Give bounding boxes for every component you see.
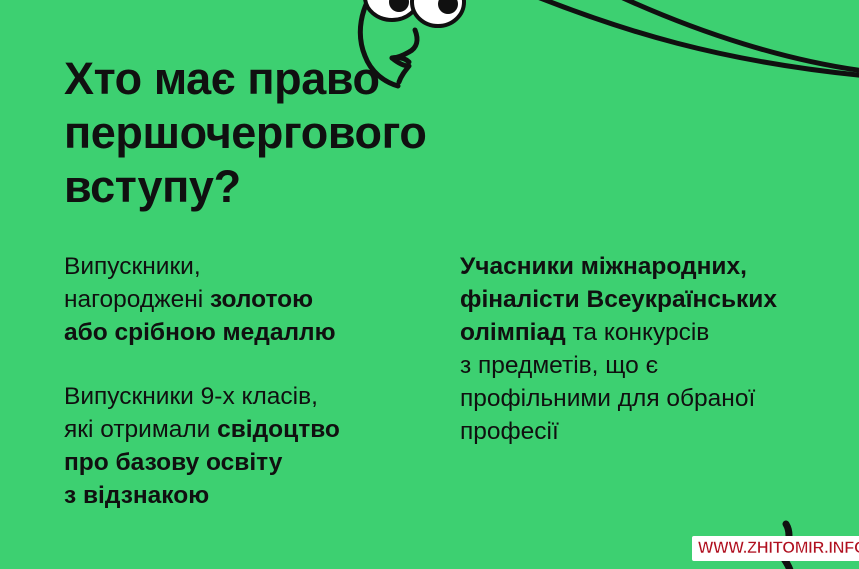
site-watermark: WWW.ZHITOMIR.INFO: [692, 536, 859, 561]
sweep-curve-lower: [610, 0, 859, 72]
list-item-regular-text: Випускники, нагороджені: [64, 253, 210, 313]
left-column: Випускники, нагороджені золотою або сріб…: [64, 250, 434, 512]
list-item: Випускники, нагороджені золотою або сріб…: [64, 250, 434, 349]
left-pupil: [389, 0, 409, 12]
left-eye: [365, 0, 419, 20]
page-title: Хто має право першочергового вступу?: [64, 52, 534, 214]
list-item: Випускники 9-х класів, які отримали свід…: [64, 380, 434, 512]
list-item: Учасники міжнародних, фіналісти Всеукраї…: [460, 250, 820, 448]
infographic-poster: Хто має право першочергового вступу? Вип…: [0, 0, 859, 569]
right-pupil: [438, 0, 458, 14]
sweep-curve-upper: [530, 0, 859, 76]
right-column: Учасники міжнародних, фіналісти Всеукраї…: [460, 250, 820, 448]
right-eye: [412, 0, 464, 26]
